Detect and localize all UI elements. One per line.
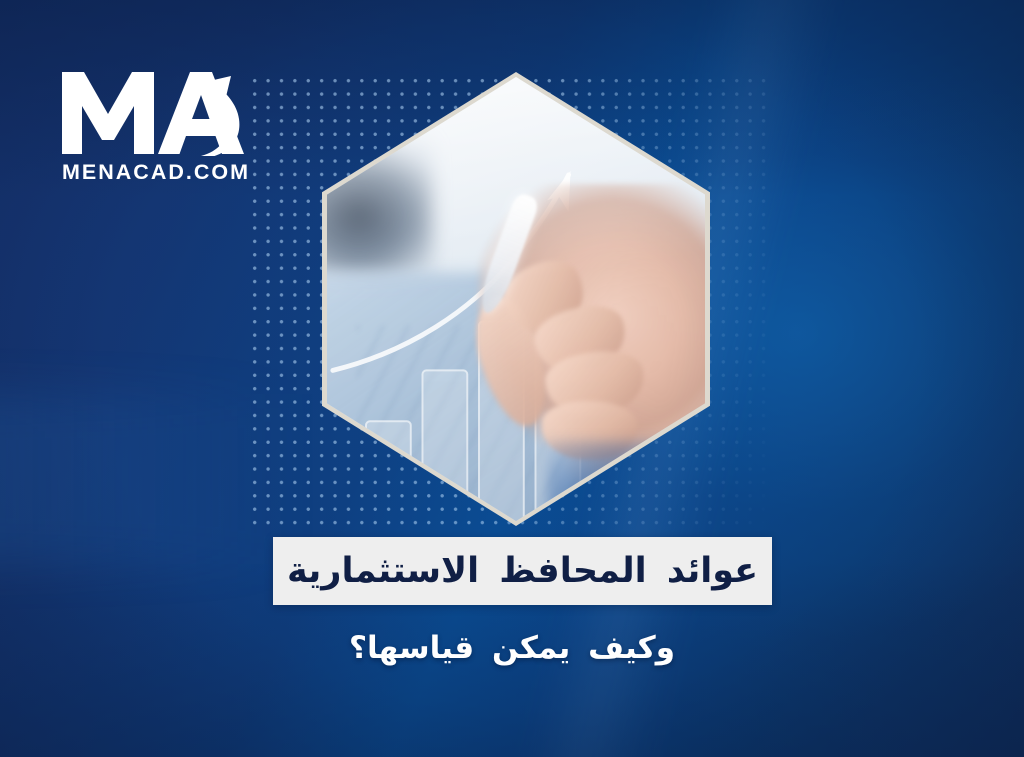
title-banner: عوائد المحافظ الاستثمارية — [273, 537, 772, 605]
hexagon-photo-clip — [327, 77, 705, 521]
brand-wordmark: MENACAD.COM — [62, 160, 250, 185]
poster-canvas: MENACAD.COM — [0, 0, 1024, 757]
page-subtitle: وكيف يمكن قياسها؟ — [0, 629, 1024, 668]
hero-photo — [327, 77, 705, 521]
logo-ma-mark — [60, 68, 260, 156]
hero-hexagon-image — [322, 72, 710, 526]
brand-logo[interactable]: MENACAD.COM — [60, 68, 290, 190]
page-title: عوائد المحافظ الاستثمارية — [287, 554, 758, 589]
